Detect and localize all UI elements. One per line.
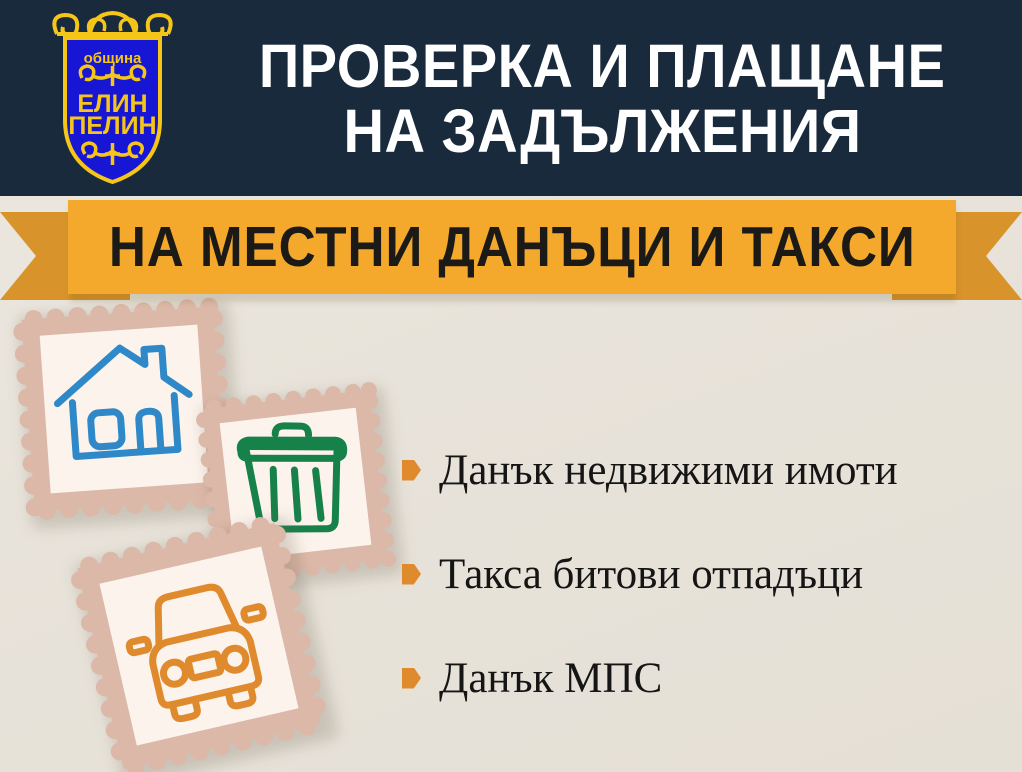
stamp-card-vehicle (65, 511, 332, 772)
list-item[interactable]: Данък МПС (402, 626, 1012, 730)
arrow-bullet-icon (402, 460, 421, 481)
subtitle-ribbon: НА МЕСТНИ ДАНЪЦИ И ТАКСИ (0, 196, 1022, 308)
ribbon-banner: НА МЕСТНИ ДАНЪЦИ И ТАКСИ (68, 200, 956, 294)
page-title: ПРОВЕРКА И ПЛАЩАНЕ НА ЗАДЪЛЖЕНИЯ (196, 14, 1008, 184)
tax-type-list: Данък недвижими имоти Такса битови отпад… (402, 418, 1012, 730)
header-bar: община ЕЛИН ПЕЛИН (0, 0, 1022, 196)
municipality-crest-logo: община ЕЛИН ПЕЛИН (35, 8, 190, 188)
crest-icon: община ЕЛИН ПЕЛИН (35, 8, 190, 188)
arrow-bullet-icon (402, 564, 421, 585)
poster-canvas: община ЕЛИН ПЕЛИН (0, 0, 1022, 772)
title-line-1: ПРОВЕРКА И ПЛАЩАНЕ (259, 34, 946, 99)
title-line-2: НА ЗАДЪЛЖЕНИЯ (343, 99, 861, 164)
crest-name-line-2: ПЕЛИН (68, 112, 156, 140)
list-item-label: Такса битови отпадъци (439, 553, 863, 596)
ribbon-label: НА МЕСТНИ ДАНЪЦИ И ТАКСИ (109, 214, 916, 280)
list-item-label: Данък недвижими имоти (439, 449, 898, 492)
list-item[interactable]: Такса битови отпадъци (402, 522, 1012, 626)
list-item-label: Данък МПС (439, 657, 662, 700)
list-item[interactable]: Данък недвижими имоти (402, 418, 1012, 522)
arrow-bullet-icon (402, 668, 421, 689)
crest-top-word: община (84, 50, 142, 67)
